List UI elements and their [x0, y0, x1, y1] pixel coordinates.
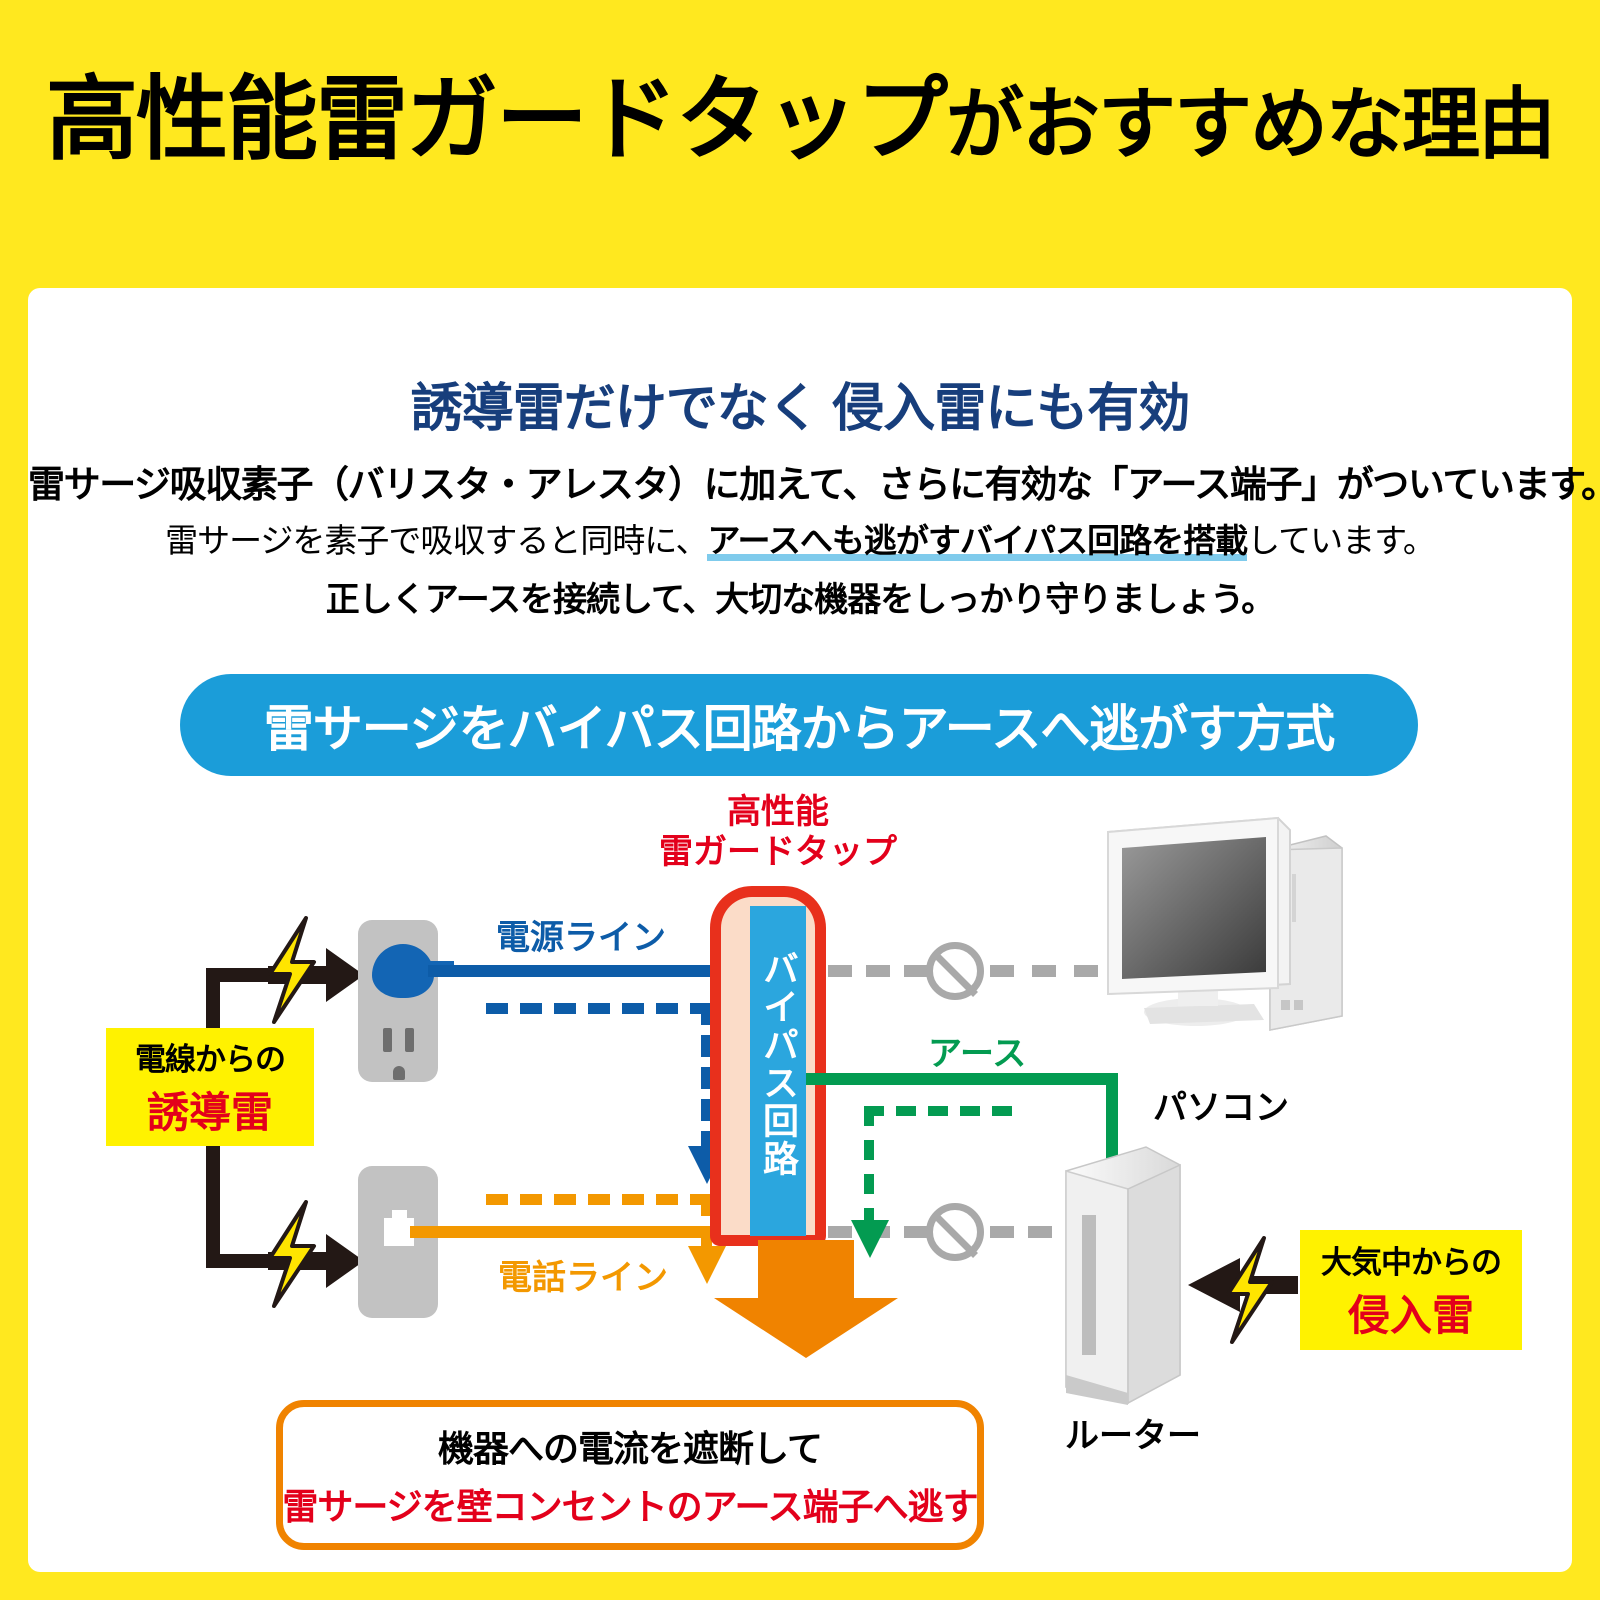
earth-label: アース: [928, 1026, 1026, 1075]
method-banner-label: 雷サージをバイパス回路からアースへ逃がす方式: [264, 689, 1335, 761]
method-banner: 雷サージをバイパス回路からアースへ逃がす方式: [180, 674, 1418, 776]
power-line-label: 電源ライン: [496, 910, 666, 959]
result-callout: 機器への電流を遮断して 雷サージを壁コンセントのアース端子へ逃す: [276, 1400, 984, 1550]
content-panel: 誘導雷だけでなく 侵入雷にも有効 雷サージ吸収素子（バリスタ・アレスタ）に加えて…: [28, 288, 1572, 1572]
badge-induced-lightning-line1: 電線からの: [135, 1034, 285, 1079]
power-line-dash-horizontal: [486, 1003, 712, 1014]
bypass-circuit: バイパス回路: [750, 906, 806, 1236]
phone-line-dash-horizontal: [486, 1194, 712, 1205]
result-callout-line2: 雷サージを壁コンセントのアース端子へ逃す: [282, 1478, 977, 1530]
lightning-bolt-bottom-icon: [260, 1200, 322, 1308]
earth-dash-horizontal: [864, 1106, 1012, 1116]
page-title: 高性能雷ガードタップがおすすめな理由: [0, 72, 1600, 169]
page-title-suffix: がおすすめな理由: [946, 80, 1554, 168]
prohibition-icon-power: [926, 942, 984, 1000]
desktop-pc-icon: [1078, 808, 1350, 1068]
bypass-circuit-label: バイパス回路: [760, 950, 796, 1178]
lead-line-2-post: しています。: [1247, 522, 1435, 559]
badge-direct-lightning-line1: 大気中からの: [1321, 1237, 1501, 1282]
tap-label: 高性能 雷ガードタップ: [618, 792, 938, 872]
blocked-power-path-left: [828, 965, 928, 977]
lead-line-1: 雷サージ吸収素子（バリスタ・アレスタ）に加えて、さらに有効な「アース端子」がつい…: [28, 454, 1572, 508]
power-line-solid: [428, 965, 758, 977]
result-callout-line1: 機器への電流を遮断して: [438, 1420, 822, 1472]
tap-label-line2: 雷ガードタップ: [618, 832, 938, 872]
pc-label: パソコン: [1116, 1080, 1326, 1129]
tap-label-line1: 高性能: [618, 792, 938, 832]
lightning-bolt-top-icon: [260, 916, 322, 1024]
badge-induced-lightning-line2: 誘導雷: [147, 1079, 273, 1140]
phone-line-label: 電話ライン: [498, 1250, 668, 1299]
earth-dash-vertical: [864, 1106, 874, 1228]
lead-line-2-pre: 雷サージを素子で吸収すると同時に、: [165, 522, 707, 559]
outlet-slot-right: [405, 1028, 414, 1052]
surge-protection-diagram: 電線からの 誘導雷 電源ライン 電話ライン: [28, 788, 1572, 1572]
lead-line-2: 雷サージを素子で吸収すると同時に、アースへも逃がすバイパス回路を搭載しています。: [28, 514, 1572, 562]
page-title-main: 高性能雷ガードタップ: [46, 69, 946, 171]
badge-direct-lightning: 大気中からの 侵入雷: [1300, 1230, 1522, 1350]
lead-line-2-highlight: アースへも逃がすバイパス回路を搭載: [707, 522, 1247, 561]
telephone-jack-port-tab: [392, 1210, 407, 1220]
badge-direct-lightning-line2: 侵入雷: [1348, 1282, 1474, 1343]
prohibition-icon-phone: [926, 1203, 984, 1261]
earth-arrow-icon: [851, 1220, 889, 1258]
badge-induced-lightning: 電線からの 誘導雷: [106, 1028, 314, 1146]
outlet-ground-hole: [393, 1066, 405, 1080]
router-icon: [1058, 1143, 1188, 1408]
lead-line-3: 正しくアースを接続して、大切な機器をしっかり守りましょう。: [28, 572, 1572, 621]
section-headline: 誘導雷だけでなく 侵入雷にも有効: [28, 366, 1572, 441]
outlet-slot-left: [383, 1028, 392, 1052]
lightning-bolt-right-icon: [1218, 1236, 1280, 1344]
router-label: ルーター: [1028, 1408, 1238, 1457]
